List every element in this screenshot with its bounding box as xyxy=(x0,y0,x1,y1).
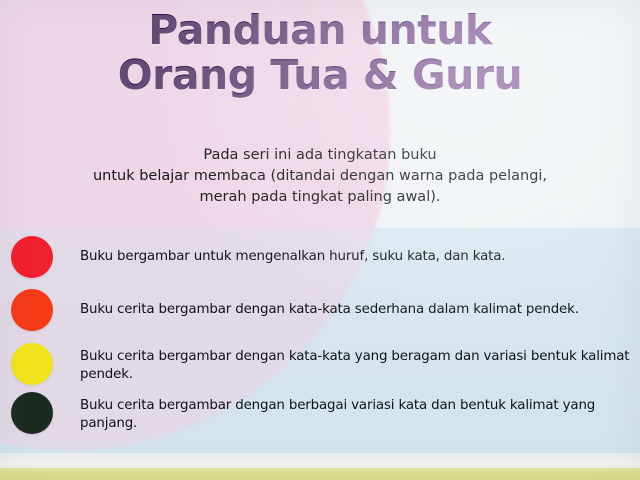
level-dot-dark-green xyxy=(11,392,53,434)
panel-divider xyxy=(0,453,640,469)
title-line-2: Orang Tua & Guru xyxy=(0,53,640,102)
level-dot-orange-red xyxy=(11,289,53,331)
list-item-label: Buku cerita bergambar dengan kata-kata y… xyxy=(80,348,632,383)
title-line-1: Panduan untuk xyxy=(0,8,640,57)
subtitle-line-1: Pada seri ini ada tingkatan buku xyxy=(0,145,640,166)
subtitle-block: Pada seri ini ada tingkatan buku untuk b… xyxy=(0,145,640,208)
subtitle-line-2: untuk belajar membaca (ditandai dengan w… xyxy=(0,166,640,187)
list-item-label: Buku cerita bergambar dengan berbagai va… xyxy=(80,397,632,432)
poster-image: Panduan untuk Orang Tua & Guru Pada seri… xyxy=(0,0,640,480)
list-item-label: Buku cerita bergambar dengan kata-kata s… xyxy=(80,301,632,319)
list-item-label: Buku bergambar untuk mengenalkan huruf, … xyxy=(80,248,632,266)
subtitle-line-3: merah pada tingkat paling awal). xyxy=(0,187,640,208)
page-title: Panduan untuk Orang Tua & Guru xyxy=(0,8,640,102)
level-dot-yellow xyxy=(11,343,53,385)
levels-list: Buku bergambar untuk mengenalkan huruf, … xyxy=(0,228,640,454)
level-dot-red xyxy=(11,236,53,278)
bottom-color-band xyxy=(0,468,640,480)
